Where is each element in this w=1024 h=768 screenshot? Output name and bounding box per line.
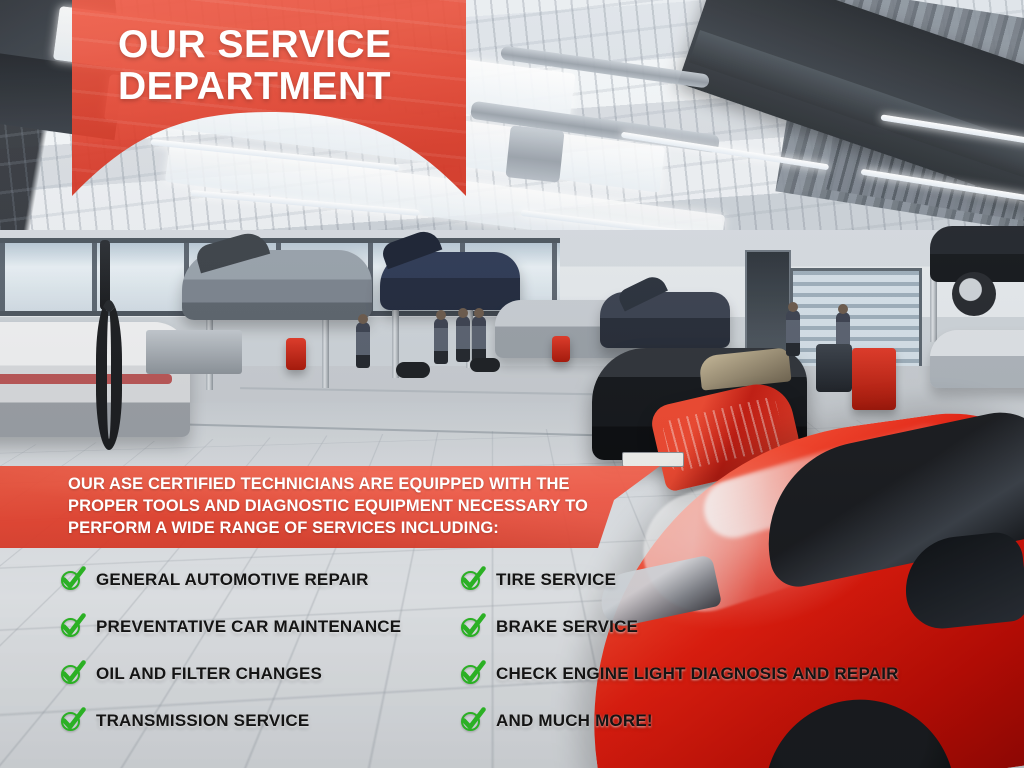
services-checklist: GENERAL AUTOMOTIVE REPAIRPREVENTATIVE CA…: [0, 556, 1024, 736]
service-list-item-label: TIRE SERVICE: [496, 570, 616, 590]
service-list-item-label: GENERAL AUTOMOTIVE REPAIR: [96, 570, 369, 590]
technician-4: [472, 316, 486, 362]
technician-1: [356, 322, 370, 368]
check-circle-icon: [460, 568, 484, 592]
lift-post-5: [930, 276, 937, 342]
tool-cart-red-large: [852, 348, 896, 410]
service-list-item-label: CHECK ENGINE LIGHT DIAGNOSIS AND REPAIR: [496, 664, 899, 684]
check-circle-icon: [460, 615, 484, 639]
service-list-item: TRANSMISSION SERVICE: [60, 697, 460, 744]
service-list-item-label: OIL AND FILTER CHANGES: [96, 664, 322, 684]
page-title-line-1: OUR SERVICE: [118, 23, 392, 66]
license-plate: [622, 452, 684, 467]
service-list-item: TIRE SERVICE: [460, 556, 1020, 603]
check-circle-icon: [60, 615, 84, 639]
service-department-poster: OUR SERVICE DEPARTMENT OUR ASE CERTIFIED…: [0, 0, 1024, 768]
page-title: OUR SERVICE DEPARTMENT: [118, 24, 458, 108]
service-list-item: CHECK ENGINE LIGHT DIAGNOSIS AND REPAIR: [460, 650, 1020, 697]
tire-stack-2: [470, 358, 500, 372]
services-column-left: GENERAL AUTOMOTIVE REPAIRPREVENTATIVE CA…: [60, 556, 460, 744]
check-circle-icon: [60, 662, 84, 686]
service-list-item: OIL AND FILTER CHANGES: [60, 650, 460, 697]
check-circle-icon: [60, 709, 84, 733]
tire-stack: [396, 362, 430, 378]
vehicle-silver-right: [930, 330, 1024, 388]
exhaust-extraction-hose: [96, 300, 122, 450]
page-title-line-2: DEPARTMENT: [118, 66, 458, 108]
service-list-item-label: BRAKE SERVICE: [496, 617, 638, 637]
diagnostic-equipment: [816, 344, 852, 392]
check-circle-icon: [460, 662, 484, 686]
tool-cart-2: [552, 336, 570, 362]
air-duct-box: [505, 125, 564, 182]
service-list-item: GENERAL AUTOMOTIVE REPAIR: [60, 556, 460, 603]
tool-cart-1: [286, 338, 306, 370]
technician-3: [456, 316, 470, 362]
lift-post-2: [322, 312, 329, 388]
technician-2: [434, 318, 448, 364]
check-circle-icon: [60, 568, 84, 592]
service-list-item: BRAKE SERVICE: [460, 603, 1020, 650]
service-list-item: AND MUCH MORE!: [460, 697, 1020, 744]
vehicle-dark-suv-wheel: [952, 272, 996, 316]
services-column-right: TIRE SERVICEBRAKE SERVICECHECK ENGINE LI…: [460, 556, 1020, 744]
statement-text: OUR ASE CERTIFIED TECHNICIANS ARE EQUIPP…: [68, 474, 608, 539]
technician-5: [786, 310, 800, 356]
workbench: [146, 330, 242, 374]
service-list-item-label: TRANSMISSION SERVICE: [96, 711, 309, 731]
check-circle-icon: [460, 709, 484, 733]
service-list-item-label: PREVENTATIVE CAR MAINTENANCE: [96, 617, 401, 637]
service-list-item: PREVENTATIVE CAR MAINTENANCE: [60, 603, 460, 650]
service-list-item-label: AND MUCH MORE!: [496, 711, 653, 731]
